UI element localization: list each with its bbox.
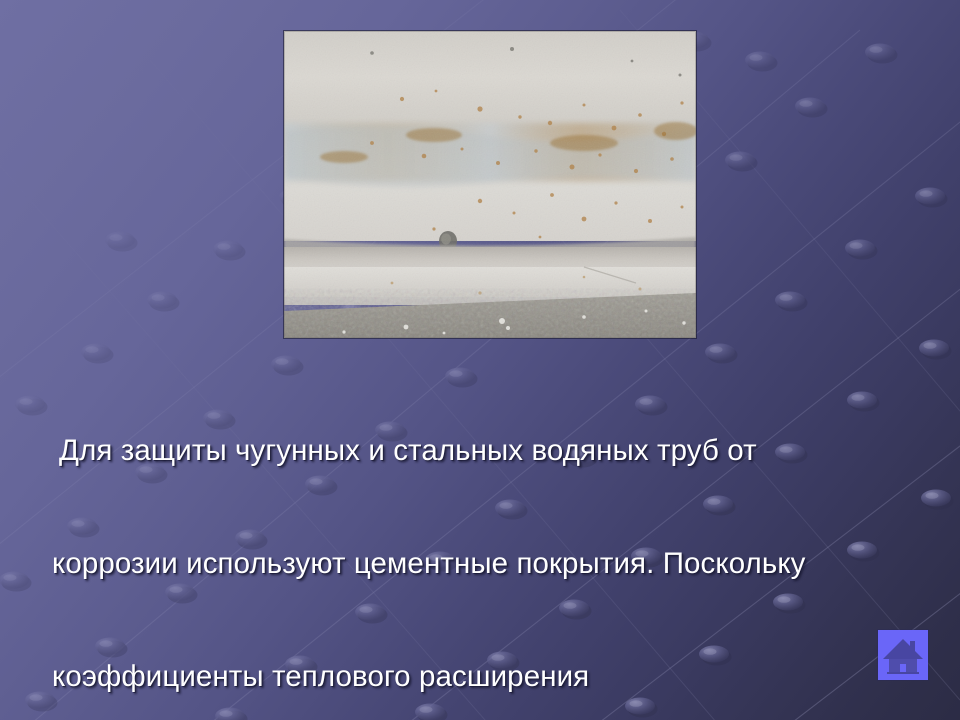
presentation-slide: Для защиты чугунных и стальных водяных т… (0, 0, 960, 720)
home-button[interactable] (878, 630, 928, 680)
pipe-photo (284, 31, 696, 338)
home-icon (878, 630, 928, 680)
slide-body-text: Для защиты чугунных и стальных водяных т… (52, 357, 924, 720)
body-line: коэффициенты теплового расширения (52, 658, 924, 696)
body-line: Для защиты чугунных и стальных водяных т… (52, 432, 924, 470)
body-line: коррозии используют цементные покрытия. … (52, 545, 924, 583)
